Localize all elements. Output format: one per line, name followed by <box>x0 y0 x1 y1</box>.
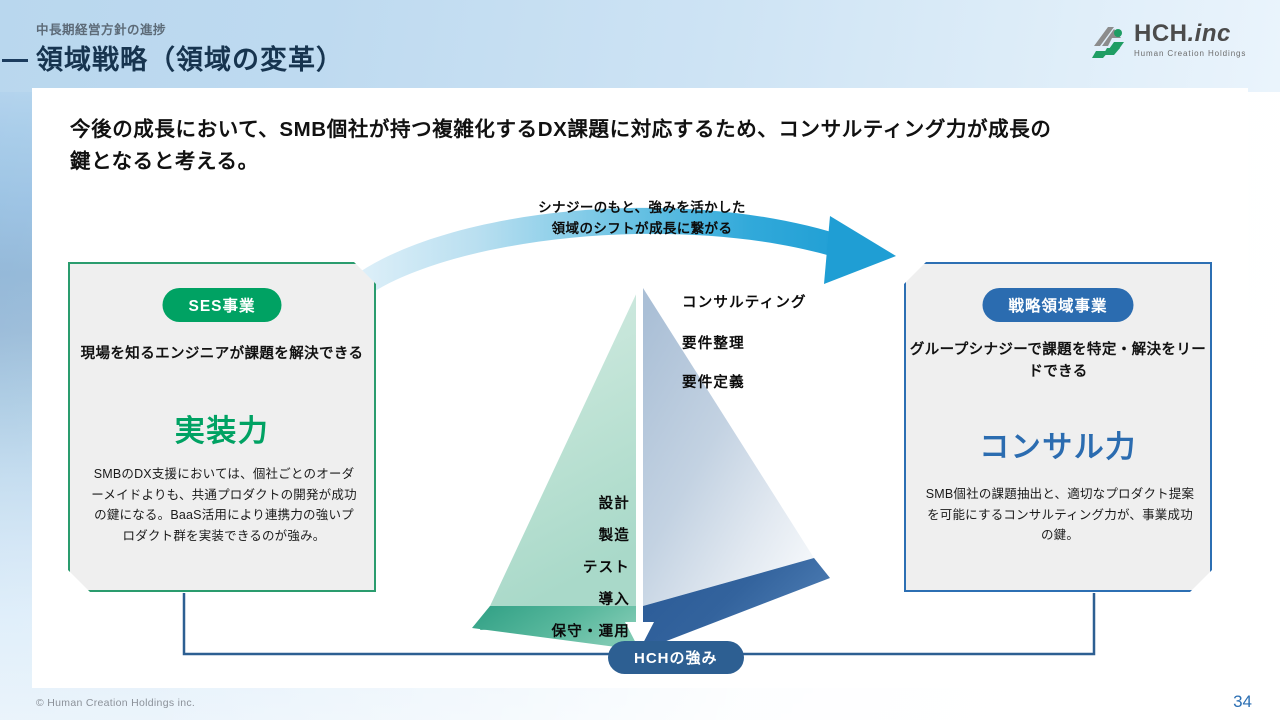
title-dash-icon <box>2 59 28 62</box>
badge-hch-strength: HCHの強み <box>608 641 744 674</box>
logo-wordmark: HCH.inc Human Creation Holdings <box>1134 22 1246 58</box>
logo-main-text: HCH.inc <box>1134 22 1246 46</box>
badge-ses-business: SES事業 <box>162 288 281 322</box>
copyright-text: © Human Creation Holdings inc. <box>36 697 195 709</box>
pyramid-left-label-4: 保守・運用 <box>552 620 631 641</box>
pyramid-right-label-1: 要件整理 <box>682 332 745 353</box>
left-card-subtitle: 現場を知るエンジニアが課題を解決できる <box>70 344 374 366</box>
content-panel: 今後の成長において、SMB個社が持つ複雑化するDX課題に対応するため、コンサルテ… <box>32 88 1248 688</box>
header-eyebrow: 中長期経営方針の進捗 <box>36 19 166 38</box>
pyramid-right-label-2: 要件定義 <box>682 371 745 392</box>
right-card-body: SMB個社の課題抽出と、適切なプロダクト提案を可能にするコンサルティング力が、事… <box>924 484 1196 546</box>
right-card-highlight: コンサル力 <box>906 422 1210 466</box>
pyramid-left-label-0: 設計 <box>599 492 630 513</box>
card-ses-business[interactable]: SES事業 現場を知るエンジニアが課題を解決できる 実装力 SMBのDX支援にお… <box>68 262 376 592</box>
left-card-body: SMBのDX支援においては、個社ごとのオーダーメイドよりも、共通プロダクトの開発… <box>88 464 360 547</box>
pyramid-right-label-0: コンサルティング <box>682 291 807 312</box>
pyramid-left-label-1: 製造 <box>599 524 630 545</box>
arrow-caption: シナジーのもと、強みを活かした 領域のシフトが成長に繋がる <box>432 198 852 240</box>
card-strategic-business[interactable]: 戦略領域事業 グループシナジーで課題を特定・解決をリードできる コンサル力 SM… <box>904 262 1212 592</box>
pyramid-left-label-2: テスト <box>583 556 630 577</box>
pyramid-graphic <box>472 288 830 650</box>
arrow-caption-line2: 領域のシフトが成長に繋がる <box>432 219 852 240</box>
page-number: 34 <box>1233 692 1252 712</box>
page-title: 領域戦略（領域の変革） <box>36 38 344 77</box>
left-card-highlight: 実装力 <box>70 406 374 450</box>
right-card-subtitle: グループシナジーで課題を特定・解決をリードできる <box>906 340 1210 384</box>
badge-strategic-business: 戦略領域事業 <box>982 288 1133 322</box>
logo-subtitle: Human Creation Holdings <box>1134 49 1246 58</box>
company-logo: HCH.inc Human Creation Holdings <box>1090 20 1250 66</box>
slide-header: 中長期経営方針の進捗 領域戦略（領域の変革） HCH.inc Human Cre… <box>0 0 1280 88</box>
logo-mark-icon <box>1090 24 1130 62</box>
arrow-caption-line1: シナジーのもと、強みを活かした <box>432 198 852 219</box>
pyramid-left-label-3: 導入 <box>599 588 630 609</box>
